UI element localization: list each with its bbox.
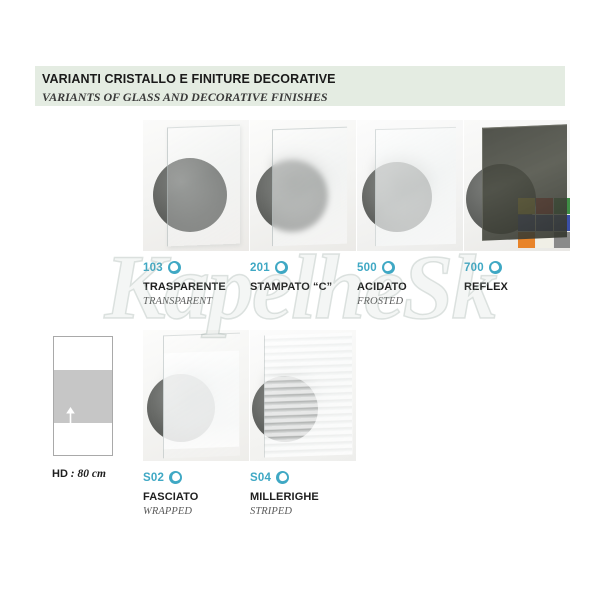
water-drop-icon [276, 471, 289, 484]
glass-pane-tinted-mirror [482, 124, 567, 241]
glass-pane-clear [167, 125, 240, 247]
glass-pane-striped [264, 332, 353, 457]
product-image-fasciato [143, 330, 249, 461]
product-code-row: S04 [250, 470, 356, 485]
hd-caption-label: HD [52, 468, 68, 480]
product-image-trasparente [143, 120, 249, 251]
water-drop-icon [168, 261, 181, 274]
product-code: S04 [250, 472, 271, 484]
glass-pane-wrapped [163, 333, 240, 459]
hd-double-arrow-icon [65, 407, 76, 452]
product-cell-trasparente[interactable]: 103 TRASPARENTE TRANSPARENT [143, 120, 249, 307]
water-drop-icon [489, 261, 502, 274]
water-drop-icon [275, 261, 288, 274]
product-name-it: TRASPARENTE [143, 281, 249, 293]
hd-band-label: HD [80, 422, 96, 434]
product-name-it: MILLERIGHE [250, 491, 356, 503]
product-image-millerighe [250, 330, 356, 461]
glass-pane-patterned [272, 127, 347, 247]
product-code-row: 103 [143, 260, 249, 275]
product-code: 700 [464, 262, 484, 274]
product-code-row: 201 [250, 260, 356, 275]
product-name-it: FASCIATO [143, 491, 249, 503]
page-subtitle: VARIANTS OF GLASS AND DECORATIVE FINISHE… [42, 90, 328, 105]
product-code-row: S02 [143, 470, 249, 485]
product-code: S02 [143, 472, 164, 484]
product-name-en: TRANSPARENT [143, 296, 249, 307]
product-cell-millerighe[interactable]: S04 MILLERIGHE STRIPED [250, 330, 356, 517]
product-name-it: STAMPATO “C” [250, 281, 356, 293]
hd-caption-value: 80 cm [77, 468, 105, 480]
hd-caption: HD : 80 cm [52, 468, 106, 480]
product-name-it: ACIDATO [357, 281, 463, 293]
product-name-en: STRIPED [250, 506, 356, 517]
product-code: 500 [357, 262, 377, 274]
water-drop-icon [382, 261, 395, 274]
product-cell-fasciato[interactable]: S02 FASCIATO WRAPPED [143, 330, 249, 517]
product-image-acidato [357, 120, 463, 251]
product-name-en: FROSTED [357, 296, 463, 307]
product-code: 201 [250, 262, 270, 274]
product-name-en: WRAPPED [143, 506, 249, 517]
page-title: VARIANTI CRISTALLO E FINITURE DECORATIVE [42, 72, 336, 86]
hd-band: HD [54, 370, 112, 423]
hd-height-diagram: HD [53, 336, 113, 456]
product-image-stampato-c [250, 120, 356, 251]
product-code-row: 500 [357, 260, 463, 275]
water-drop-icon [169, 471, 182, 484]
product-cell-reflex[interactable]: 700 REFLEX [464, 120, 570, 296]
product-cell-stampato-c[interactable]: 201 STAMPATO “C” [250, 120, 356, 296]
product-cell-acidato[interactable]: 500 ACIDATO FROSTED [357, 120, 463, 307]
product-code-row: 700 [464, 260, 570, 275]
product-image-reflex [464, 120, 570, 251]
product-code: 103 [143, 262, 163, 274]
product-name-it: REFLEX [464, 281, 570, 293]
glass-pane-frosted [375, 127, 456, 246]
